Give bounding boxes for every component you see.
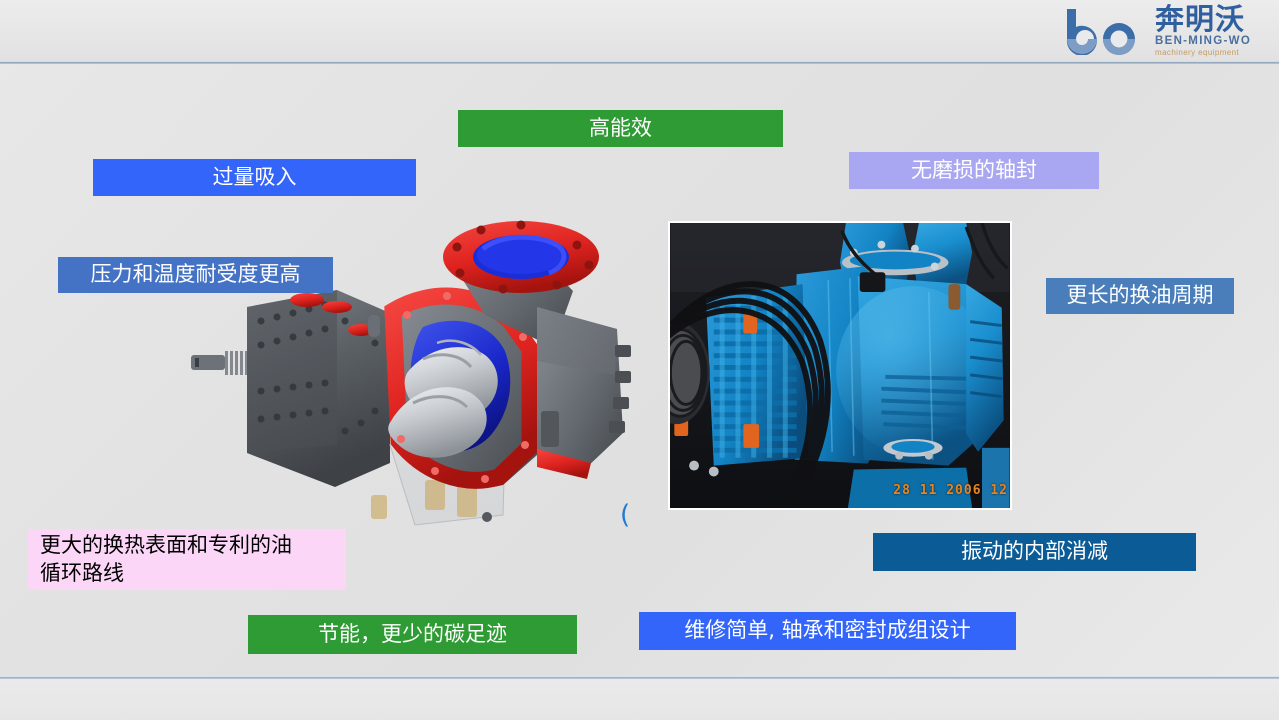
callout-over-suction: 过量吸入 (93, 159, 416, 196)
photo-timestamp: 28 11 2006 12 (893, 483, 1008, 498)
header-divider (0, 61, 1279, 64)
callout-internal-vibration-reduction: 振动的内部消减 (873, 533, 1196, 571)
screw-compressor-cad-image (185, 195, 655, 550)
logo-chinese-name: 奔明沃 (1155, 5, 1251, 34)
callout-easy-maintenance: 维修简单, 轴承和密封成组设计 (639, 612, 1016, 650)
callout-higher-pressure-temperature: 压力和温度耐受度更高 (58, 257, 333, 293)
logo-tagline: machinery equipment (1155, 49, 1251, 57)
bo-monogram-icon (1061, 7, 1153, 55)
compressor-installation-photo: 28 11 2006 12 (668, 221, 1012, 510)
callout-wearless-shaft-seal: 无磨损的轴封 (849, 152, 1099, 189)
company-logo: 奔明沃 BEN-MING-WO machinery equipment (1061, 2, 1273, 60)
callout-energy-saving-low-carbon: 节能，更少的碳足迹 (248, 615, 577, 654)
callout-larger-heat-exchange-surface: 更大的换热表面和专利的油 循环路线 (28, 529, 346, 590)
logo-english-name: BEN-MING-WO (1155, 36, 1251, 48)
blue-artifact-mark: ( (620, 500, 642, 526)
callout-longer-oil-change-interval: 更长的换油周期 (1046, 278, 1234, 314)
callout-high-efficiency: 高能效 (458, 110, 783, 147)
logo-wordmark: 奔明沃 BEN-MING-WO machinery equipment (1155, 5, 1251, 57)
slide: 奔明沃 BEN-MING-WO machinery equipment (0, 0, 1279, 720)
slide-footer: 24 Zhejiang BMW Mechanical & Science and… (0, 679, 1279, 720)
